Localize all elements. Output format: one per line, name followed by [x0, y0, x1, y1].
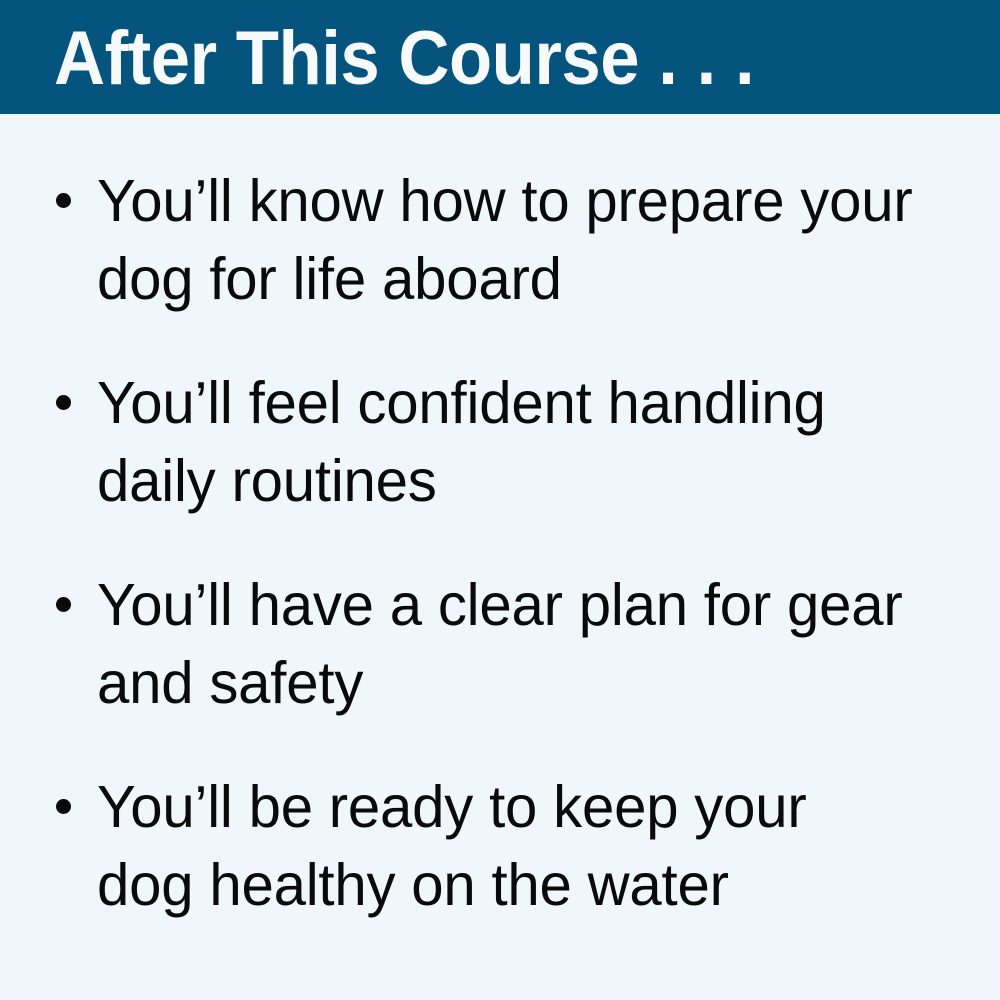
bullet-dot-icon: [56, 395, 71, 410]
bullet-list: You’ll know how to prepare your dog for …: [0, 114, 1000, 1000]
page-title: After This Course . . .: [54, 21, 754, 97]
bullet-row: You’ll know how to prepare your dog for …: [56, 162, 956, 318]
slide-header-band: After This Course . . .: [0, 0, 1000, 114]
list-item: You’ll be ready to keep your dog healthy…: [56, 768, 956, 924]
bullet-dot-icon: [56, 193, 71, 208]
bullet-text: You’ll know how to prepare your dog for …: [97, 162, 915, 318]
bullet-dot-icon: [56, 597, 71, 612]
list-item: You’ll have a clear plan for gear and sa…: [56, 566, 956, 722]
bullet-text: You’ll have a clear plan for gear and sa…: [97, 566, 915, 722]
bullet-row: You’ll have a clear plan for gear and sa…: [56, 566, 956, 722]
bullet-row: You’ll feel confident handling daily rou…: [56, 364, 956, 520]
list-item: You’ll know how to prepare your dog for …: [56, 162, 956, 318]
bullet-text: You’ll be ready to keep your dog healthy…: [97, 768, 915, 924]
bullet-text: You’ll feel confident handling daily rou…: [97, 364, 915, 520]
slide-canvas: After This Course . . . You’ll know how …: [0, 0, 1000, 1000]
bullet-row: You’ll be ready to keep your dog healthy…: [56, 768, 956, 924]
list-item: You’ll feel confident handling daily rou…: [56, 364, 956, 520]
bullet-dot-icon: [56, 799, 71, 814]
